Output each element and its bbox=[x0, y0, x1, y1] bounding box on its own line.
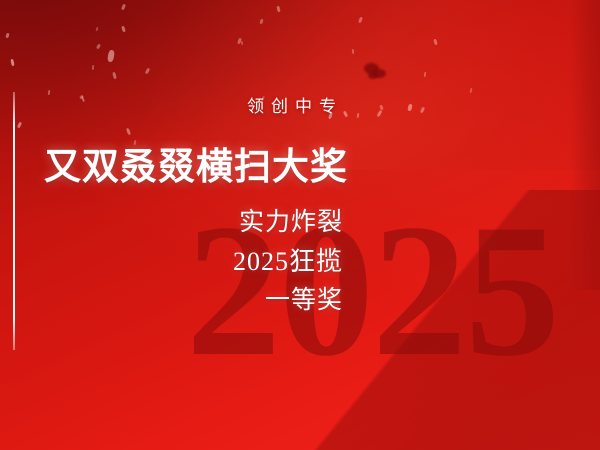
poster-subtitle-block: 实力炸裂2025狂揽一等奖 bbox=[0, 203, 343, 320]
confetti-speck bbox=[241, 41, 244, 45]
poster-subtitle-line: 实力炸裂 bbox=[0, 203, 343, 242]
promo-poster: 2025 领创中专 又双叒叕横扫大奖 实力炸裂2025狂揽一等奖 bbox=[0, 0, 600, 450]
poster-subtitle-line: 2025狂揽 bbox=[0, 242, 343, 281]
poster-subtitle-line: 一等奖 bbox=[0, 281, 343, 320]
poster-kicker-label: 领创中专 bbox=[0, 92, 343, 117]
decorative-blob bbox=[368, 72, 378, 79]
poster-headline: 又双叒叕横扫大奖 bbox=[44, 147, 348, 187]
